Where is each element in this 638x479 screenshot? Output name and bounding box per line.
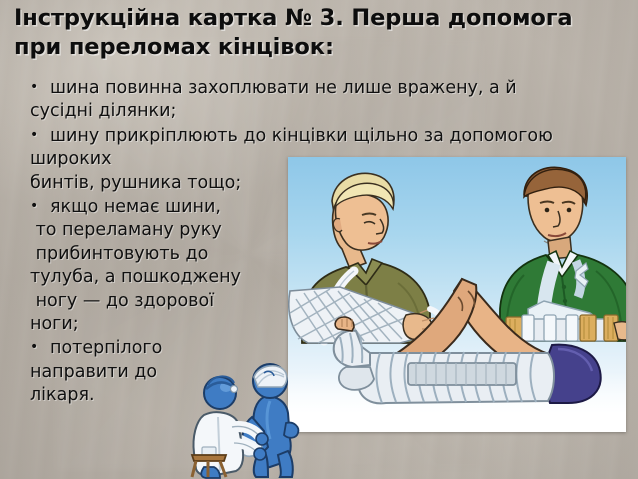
text-line-content: сусідні ділянки; bbox=[30, 101, 176, 121]
text-line-content: направити до bbox=[30, 362, 157, 382]
text-line-content: прибинтовують до bbox=[30, 244, 208, 264]
bullet-marker: • bbox=[30, 195, 50, 218]
text-line-content: тулуба, а пошкоджену bbox=[30, 267, 241, 287]
bullet-marker: • bbox=[30, 336, 50, 359]
blue-doctor-and-patient-figures bbox=[186, 355, 314, 479]
text-line: •шину прикріплюють до кінцівки щільно за… bbox=[30, 124, 630, 148]
bullet-marker: • bbox=[30, 76, 50, 99]
text-line-content: якщо немає шини, bbox=[50, 197, 221, 217]
text-line-content: шину прикріплюють до кінцівки щільно за … bbox=[50, 126, 553, 146]
text-line-content: ноги; bbox=[30, 314, 79, 334]
text-line-content: потерпілого bbox=[50, 338, 162, 358]
text-line: сусідні ділянки; bbox=[30, 100, 630, 123]
text-line-content: ногу — до здорової bbox=[30, 291, 214, 311]
text-line-content: лікаря. bbox=[30, 385, 95, 405]
page-title: Інструкційна картка № 3. Перша допомога … bbox=[14, 4, 626, 62]
text-line-content: то переламану руку bbox=[30, 220, 222, 240]
text-line: •шина повинна захоплювати не лише вражен… bbox=[30, 76, 630, 100]
bullet-marker: • bbox=[30, 124, 50, 147]
first-aid-illustration bbox=[288, 157, 626, 432]
text-line-content: шина повинна захоплювати не лише вражену… bbox=[50, 78, 517, 98]
slide: Інструкційна картка № 3. Перша допомога … bbox=[0, 0, 638, 479]
text-line-content: широких bbox=[30, 149, 112, 169]
text-line-content: бинтів, рушника тощо; bbox=[30, 173, 241, 193]
figure-legs-bandaged-with-splint bbox=[312, 267, 612, 417]
